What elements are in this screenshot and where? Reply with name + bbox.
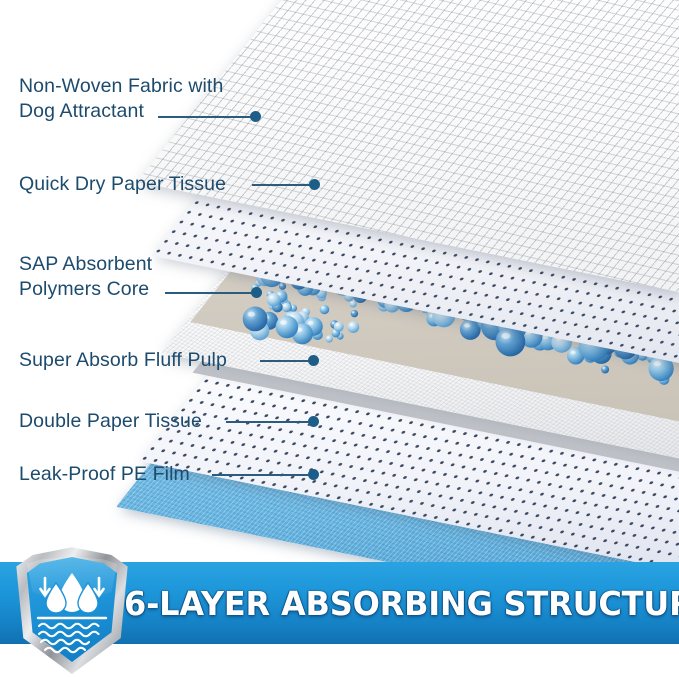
product-infographic: Non-Woven Fabric with Dog Attractant Qui…	[0, 0, 679, 677]
label-sap-absorbent-polymers-core: SAP Absorbent Polymers Core	[19, 252, 152, 302]
leader-line-non-woven-fabric	[158, 116, 253, 118]
leader-line-super-absorb-fluff-pulp	[260, 360, 312, 362]
leader-dot-double-paper-tissue	[308, 416, 319, 427]
leader-dot-quick-dry-paper-tissue	[309, 179, 320, 190]
leader-dot-super-absorb-fluff-pulp	[308, 355, 319, 366]
absorption-shield-badge	[14, 546, 130, 674]
headline-text: 6-LAYER ABSORBING STRUCTURE	[124, 572, 659, 634]
leader-dot-sap-absorbent-polymers-core	[251, 287, 262, 298]
leader-dot-leak-proof-pe-film	[308, 469, 319, 480]
label-super-absorb-fluff-pulp: Super Absorb Fluff Pulp	[19, 348, 227, 373]
label-quick-dry-paper-tissue: Quick Dry Paper Tissue	[19, 172, 226, 197]
leader-line-leak-proof-pe-film	[212, 474, 312, 476]
shield-waterdrops-icon	[25, 556, 119, 662]
leader-line-sap-absorbent-polymers-core	[165, 292, 260, 294]
label-leak-proof-pe-film: Leak-Proof PE Film	[19, 462, 190, 487]
leader-line-quick-dry-paper-tissue	[252, 184, 312, 186]
label-double-paper-tissue: Double Paper Tissue	[19, 409, 202, 434]
leader-line-double-paper-tissue	[226, 421, 312, 423]
leader-dot-non-woven-fabric	[250, 111, 261, 122]
